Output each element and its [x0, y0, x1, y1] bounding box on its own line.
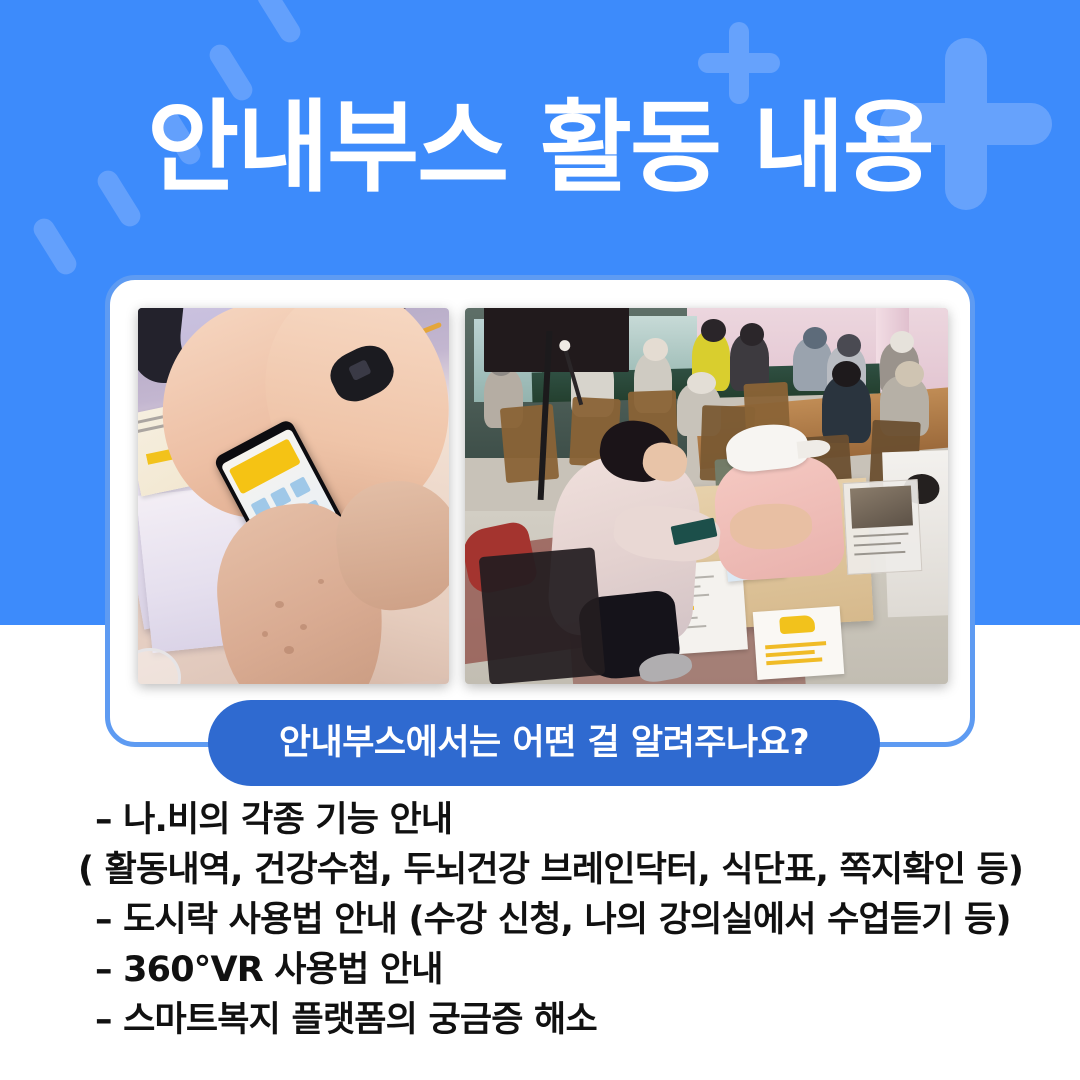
body-line: – 스마트복지 플랫폼의 궁금증 해소 [0, 995, 1080, 1045]
body-line: – 도시락 사용법 안내 (수강 신청, 나의 강의실에서 수업듣기 등) [0, 895, 1080, 945]
photo-row [138, 308, 948, 684]
page-title: 안내부스 활동 내용 [0, 92, 1080, 204]
photo-scene-left [138, 308, 449, 684]
question-pill: 안내부스에서는 어떤 걸 알려주나요? [208, 700, 880, 786]
photo-scene-right [465, 308, 948, 684]
body-line: – 360°VR 사용법 안내 [0, 945, 1080, 995]
body-line: ( 활동내역, 건강수첩, 두뇌건강 브레인닥터, 식단표, 쪽지확인 등) [0, 845, 1080, 895]
photo-card [105, 275, 975, 747]
body-list: – 나.비의 각종 기능 안내 ( 활동내역, 건강수첩, 두뇌건강 브레인닥터… [0, 795, 1080, 1045]
question-pill-label: 안내부스에서는 어떤 걸 알려주나요? [279, 723, 809, 763]
photo-community-hall-counseling [465, 308, 948, 684]
photo-hands-smartphone [138, 308, 449, 684]
poster-root: 안내부스 활동 내용 [0, 0, 1080, 1080]
body-line: – 나.비의 각종 기능 안내 [0, 795, 1080, 845]
diagonal-pill-decoration [30, 215, 81, 279]
diagonal-pill-decoration [254, 0, 305, 46]
